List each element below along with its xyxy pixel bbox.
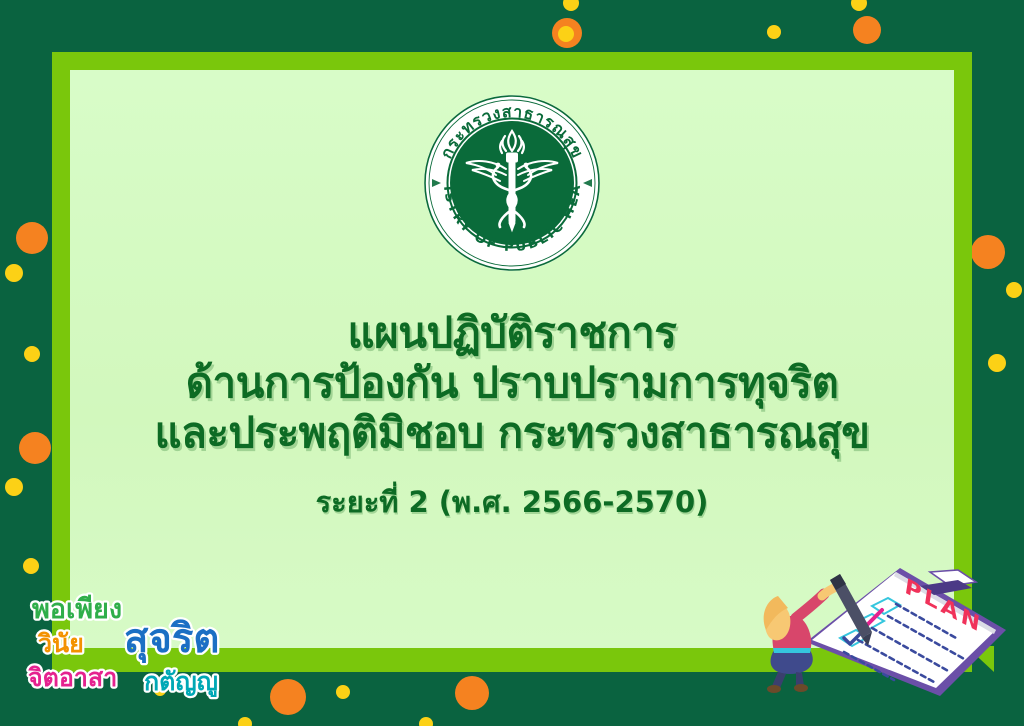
decorative-dot xyxy=(270,679,306,715)
subtitle-phase-years: ระยะที่ 2 (พ.ศ. 2566-2570) xyxy=(0,484,1024,520)
title-line-2: ด้านการป้องกัน ปราบปรามการทุจริต xyxy=(0,358,1024,408)
decorative-dot xyxy=(1006,282,1022,298)
decorative-dot xyxy=(419,717,433,726)
decorative-dot xyxy=(558,26,574,42)
ministry-of-public-health-seal: กระทรวงสาธารณสุข MINISTRY OF PUBLIC HEAL… xyxy=(422,93,602,273)
campaign-word-word1: พอเพียง xyxy=(32,594,122,625)
title-block: แผนปฏิบัติราชการ ด้านการป้องกัน ปราบปราม… xyxy=(0,308,1024,520)
decorative-dot xyxy=(552,18,582,48)
campaign-word-word2: วินัย xyxy=(37,629,84,658)
title-line-1: แผนปฏิบัติราชการ xyxy=(0,308,1024,358)
decorative-dot xyxy=(16,222,48,254)
decorative-dot xyxy=(971,235,1005,269)
title-line-3: และประพฤติมิชอบ กระทรวงสาธารณสุข xyxy=(0,408,1024,458)
decorative-dot xyxy=(455,676,489,710)
decorative-dot xyxy=(563,0,579,11)
decorative-dot xyxy=(5,264,23,282)
campaign-word-word5: กตัญญู xyxy=(144,667,218,698)
campaign-word-word3: สุจริต xyxy=(124,616,219,664)
decorative-dot xyxy=(336,685,350,699)
campaign-word-word4: จิตอาสา xyxy=(28,663,118,692)
cover-page: กระทรวงสาธารณสุข MINISTRY OF PUBLIC HEAL… xyxy=(0,0,1024,726)
decorative-dot xyxy=(853,16,881,44)
decorative-dot xyxy=(851,0,867,11)
decorative-dot xyxy=(238,717,252,726)
woman-checking-plan-clipboard: PLAN xyxy=(744,546,1024,726)
decorative-dot xyxy=(23,558,39,574)
decorative-dot xyxy=(767,25,781,39)
sufficiency-integrity-campaign-logo: .cw { font-family: "DejaVu Sans","Libera… xyxy=(16,590,266,700)
